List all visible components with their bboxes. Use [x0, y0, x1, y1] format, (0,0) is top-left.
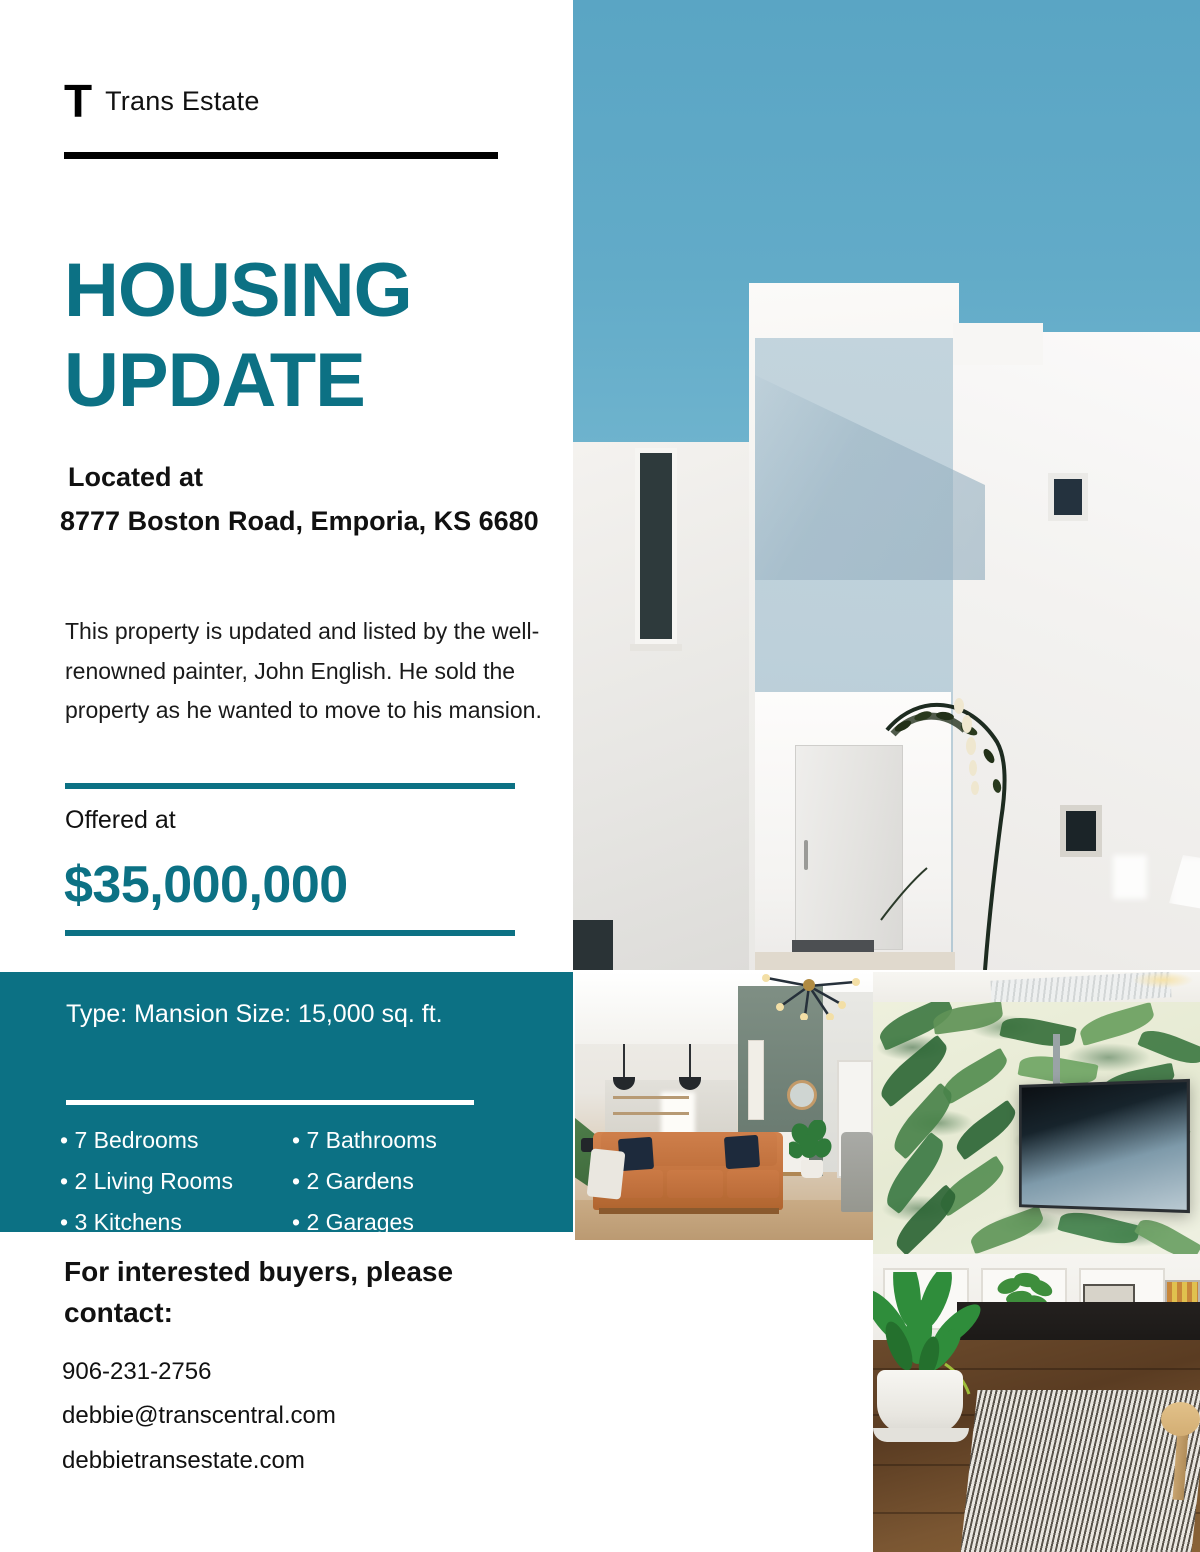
hero-sunlight-patch-1	[1113, 855, 1147, 899]
spec-item: • 2 Gardens	[292, 1168, 524, 1195]
lr-round-mirror	[787, 1080, 817, 1110]
brand-logo[interactable]: T Trans Estate	[64, 78, 260, 124]
specs-title: Type: Mansion Size: 15,000 sq. ft.	[66, 996, 486, 1032]
lr-grey-armchair	[841, 1132, 873, 1212]
hero-square-window-1	[1048, 473, 1088, 521]
contact-phone[interactable]: 906-231-2756	[62, 1350, 492, 1394]
tv-screen	[1019, 1079, 1190, 1213]
specs-panel: Type: Mansion Size: 15,000 sq. ft. • 7 B…	[0, 972, 573, 1232]
lr-kitchen-shelf	[613, 1096, 689, 1099]
lr-wall-art	[748, 1040, 764, 1120]
brand-name: Trans Estate	[105, 86, 259, 117]
spec-item: • 2 Garages	[292, 1209, 524, 1236]
price-amount: $35,000,000	[64, 855, 348, 915]
hero-exterior-photo	[573, 0, 1200, 970]
living-room-photo	[575, 972, 873, 1240]
contact-details: 906-231-2756 debbie@transcentral.com deb…	[62, 1350, 492, 1483]
hero-climbing-vine	[873, 690, 1033, 970]
lr-sofa-frame	[599, 1208, 779, 1214]
lr-sofa-cushion	[667, 1170, 723, 1198]
hero-window-sill	[630, 644, 682, 651]
hero-low-window	[573, 920, 613, 970]
hero-door-handle	[804, 840, 808, 870]
tv-round-side-table	[1161, 1402, 1200, 1502]
price-divider-bottom	[65, 930, 515, 936]
hero-parapet-step	[953, 323, 1043, 365]
hero-tall-window	[635, 448, 677, 644]
located-label: Located at	[68, 462, 203, 493]
price-divider-top	[65, 783, 515, 789]
spec-item: • 7 Bathrooms	[292, 1127, 524, 1154]
lr-kitchen-shelf	[613, 1112, 689, 1115]
specs-divider	[66, 1100, 474, 1105]
tv-white-planter	[877, 1370, 963, 1434]
page-title: HOUSING UPDATE	[64, 246, 554, 425]
lr-pendant-cord	[623, 1044, 625, 1080]
tv-table-top	[1161, 1402, 1200, 1436]
tv-table-leg	[1173, 1430, 1189, 1501]
spec-item: • 3 Kitchens	[60, 1209, 292, 1236]
contact-heading: For interested buyers, please contact:	[64, 1252, 504, 1333]
tv-room-photo	[873, 972, 1200, 1552]
flyer-page: T Trans Estate HOUSING UPDATE Located at…	[0, 0, 1200, 1552]
specs-list: • 7 Bedrooms • 7 Bathrooms • 2 Living Ro…	[60, 1127, 530, 1236]
spec-item: • 7 Bedrooms	[60, 1127, 292, 1154]
lr-throw-pillow	[724, 1135, 760, 1169]
contact-email[interactable]: debbie@transcentral.com	[62, 1394, 492, 1438]
lr-plant-pot	[801, 1160, 823, 1178]
property-address: 8777 Boston Road, Emporia, KS 6680	[60, 503, 590, 539]
contact-website[interactable]: debbietransestate.com	[62, 1439, 492, 1483]
hero-square-window-3	[1060, 805, 1102, 857]
tv-planter-saucer	[873, 1428, 969, 1442]
logo-t-icon: T	[64, 78, 91, 124]
lr-sputnik-chandelier	[745, 972, 873, 1020]
header-divider	[64, 152, 498, 159]
tv-ceiling-light	[1133, 972, 1193, 988]
lr-throw-blanket	[587, 1148, 626, 1199]
offered-label: Offered at	[65, 806, 176, 835]
lr-sofa-cushion	[727, 1170, 779, 1198]
lr-pendant-cord	[689, 1044, 691, 1080]
spec-item: • 2 Living Rooms	[60, 1168, 292, 1195]
property-description: This property is updated and listed by t…	[65, 612, 550, 731]
